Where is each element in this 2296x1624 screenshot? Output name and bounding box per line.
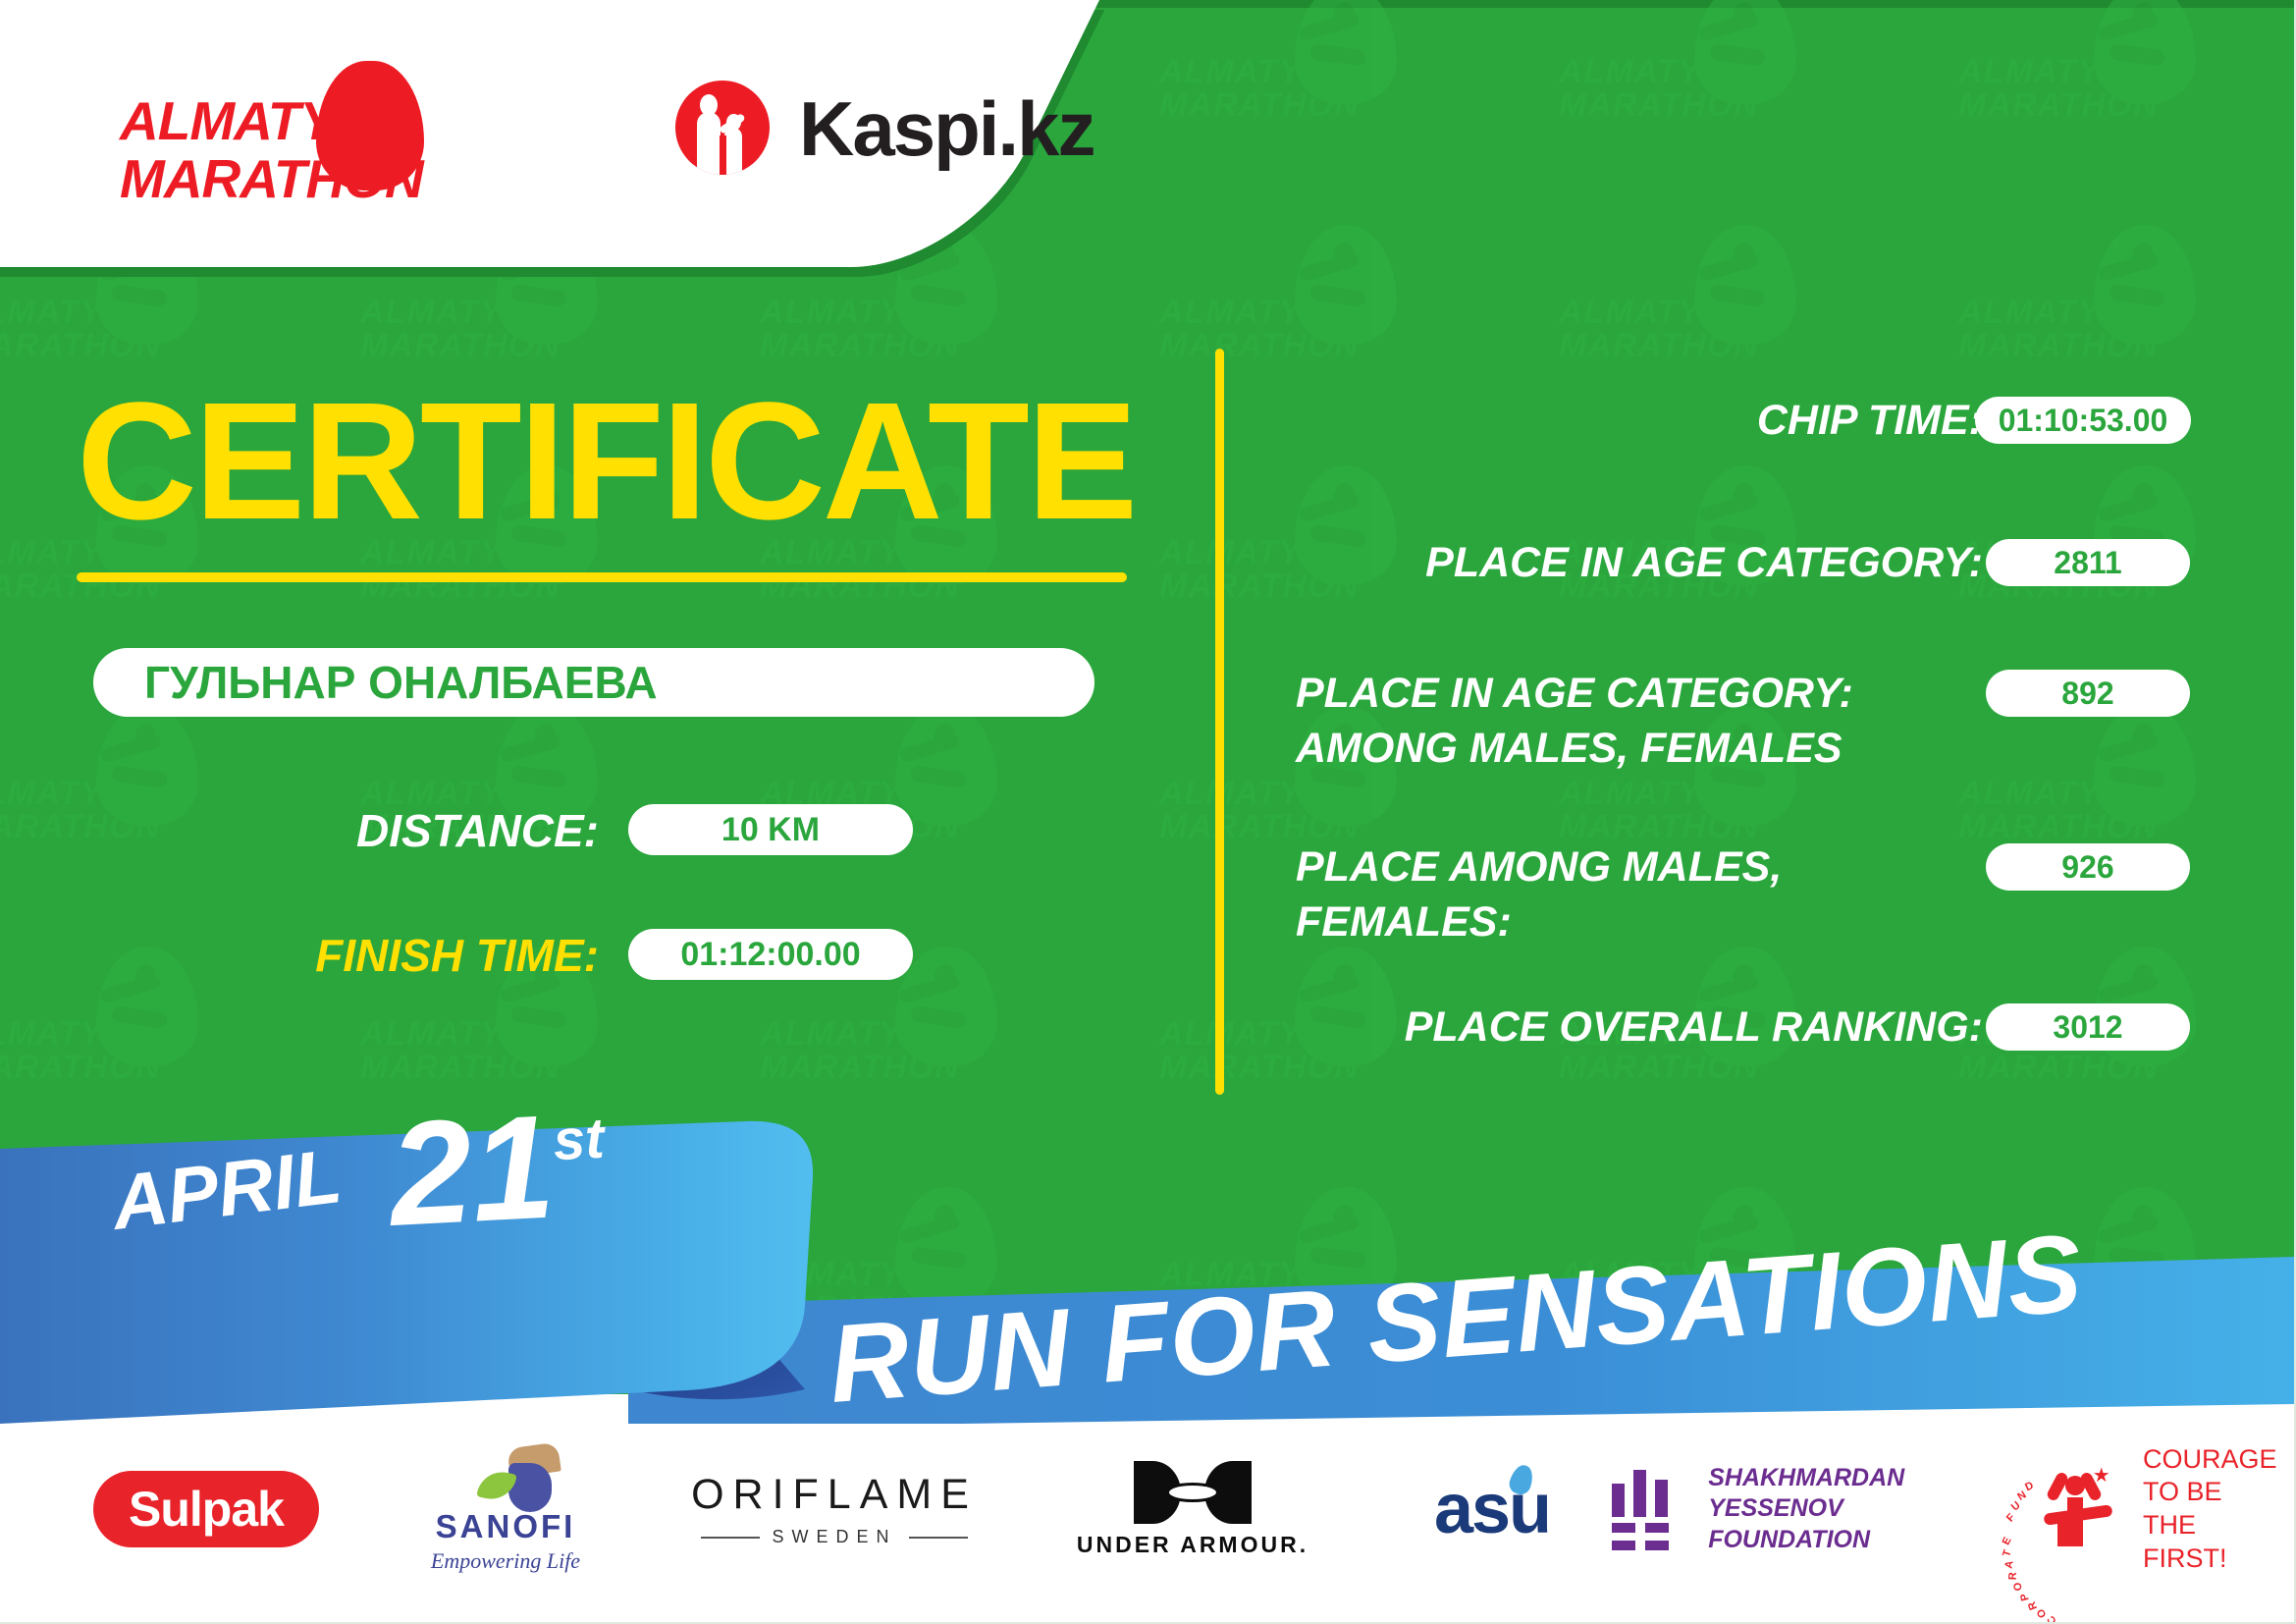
kaspi-family-icon [675,81,770,175]
watermark-tile: ALMATYMARATHON [1559,0,1814,177]
distance-row: DISTANCE: [265,800,599,861]
ym-bar-3 [1655,1480,1668,1517]
watermark-tile: ALMATYMARATHON [1958,0,2214,177]
place-age-category-gender-value: 892 [2061,676,2113,712]
sulpak-logo: Sulpak [93,1471,319,1547]
place-among-gender-label-l2: FEMALES: [1296,894,1983,949]
place-age-category-value: 2811 [2054,545,2121,581]
distance-label: DISTANCE: [356,800,599,861]
place-age-category-gender-value-pill: 892 [1986,670,2190,717]
wm-head [2130,480,2156,509]
sponsor-asu: asu [1355,1394,1629,1624]
courage-logo: CORPORATE FUND ★ COURAGE TO BE THE FIRST… [2018,1443,2282,1576]
wm-arm [1697,493,1759,523]
watermark-line2: MARATHON [1159,568,1360,606]
corporate-fund-arc-char: D [2023,1480,2035,1493]
yessenov-logo: SHAKHMARDAN YESSENOV FOUNDATION [1610,1463,2022,1555]
watermark-line1: ALMATY [1159,534,1302,572]
sanofi-shape-blue [508,1463,552,1512]
watermark-line1: ALMATY [1159,1015,1302,1054]
chip-time-value: 01:10:53.00 [1999,403,2168,439]
event-ribbon: APRIL 21 st RUN FOR SENSATIONS [0,1110,2296,1424]
place-age-category-gender-label-l2: AMONG MALES, FEMALES [1296,721,1983,776]
watermark-line2: MARATHON [1559,86,1759,125]
wm-leg [1709,284,1766,307]
yessenov-line1: SHAKHMARDAN YESSENOV [1708,1463,2022,1525]
sponsor-courage: CORPORATE FUND ★ COURAGE TO BE THE FIRST… [2022,1394,2277,1624]
courage-line3: THE FIRST! [2143,1509,2281,1576]
watermark-line1: ALMATY [1159,775,1302,813]
watermark-drop-icon [2094,706,2196,826]
wm-arm [2097,974,2159,1004]
watermark-line1: ALMATY [1958,53,2101,91]
kaspi-gap [720,135,726,175]
wm-head [1731,480,1756,509]
asu-logo: asu [1434,1469,1550,1549]
wm-arm [1298,12,1360,42]
finish-time-value: 01:12:00.00 [680,936,860,974]
wm-head [1331,480,1357,509]
wm-arm [1298,493,1360,523]
oriflame-rule-right [909,1537,968,1539]
place-among-gender-row: PLACE AMONG MALES, FEMALES: [1296,839,1983,949]
wm-leg [1309,1005,1366,1029]
wm-arm [2097,493,2159,523]
sanofi-wordmark: SANOFI [393,1508,618,1545]
wm-head [1331,961,1357,990]
finish-time-row: FINISH TIME: [226,925,599,986]
wm-arm [2097,733,2159,764]
wm-leg [1309,524,1366,548]
place-among-gender-value-pill: 926 [1986,843,2190,891]
under-armour-logo: UNDER ARMOUR. [1077,1461,1308,1558]
watermark-drop-icon [1295,225,1397,345]
yessenov-wordmark: SHAKHMARDAN YESSENOV FOUNDATION [1708,1463,2022,1555]
watermark-line1: ALMATY [1159,294,1302,332]
watermark-drop-icon [2094,225,2196,345]
chip-time-label: CHIP TIME: [1757,393,1983,448]
watermark-drop-icon [1694,0,1796,104]
watermark-line1: ALMATY [1958,294,2101,332]
place-overall-label: PLACE OVERALL RANKING: [1405,1000,1983,1055]
watermark-line1: ALMATY [1559,53,1701,91]
wm-head [1731,240,1756,268]
runner-drop-icon [316,61,424,190]
wm-leg [2109,43,2165,67]
under-armour-icon [1134,1461,1252,1524]
wm-head [2130,961,2156,990]
sponsor-under-armour: UNDER ARMOUR. [1031,1394,1355,1624]
wm-leg [2109,765,2165,788]
ym-dash-3 [1612,1541,1635,1550]
corporate-fund-arc-char: R [2006,1572,2018,1580]
watermark-line1: ALMATY [1559,775,1701,813]
place-age-category-label: PLACE IN AGE CATEGORY: [1425,535,1983,590]
watermark-drop-icon [1295,947,1397,1066]
wm-head [1331,240,1357,268]
finish-time-label: FINISH TIME: [315,925,599,986]
watermark-tile: ALMATYMARATHON [1559,221,1814,417]
watermark-line2: MARATHON [1159,1049,1360,1087]
sponsor-yessenov: SHAKHMARDAN YESSENOV FOUNDATION [1610,1394,2022,1624]
place-overall-value: 3012 [2053,1009,2122,1046]
wm-arm [1298,974,1360,1004]
wm-head [1731,961,1756,990]
yessenov-line2: FOUNDATION [1708,1525,2022,1555]
ua-center-hole [1169,1486,1216,1499]
distance-value-pill: 10 KM [628,804,913,855]
kaspi-wordmark: Kaspi.kz [799,84,1094,174]
wm-arm [1298,252,1360,283]
oriflame-wordmark: ORIFLAME [691,1471,978,1519]
place-overall-value-pill: 3012 [1986,1003,2190,1051]
watermark-line1: ALMATY [1958,775,2101,813]
corporate-fund-arc-char: P [2018,1593,2031,1602]
wm-arm [1697,12,1759,42]
almaty-marathon-logo: ALMATY MARATHON [120,61,454,193]
sponsor-sulpak: Sulpak [49,1394,363,1624]
wm-head [2130,721,2156,749]
watermark-tile: ALMATYMARATHON [1159,461,1415,658]
under-armour-wordmark: UNDER ARMOUR. [1077,1532,1308,1558]
sponsor-sanofi: SANOFI Empowering Life [363,1394,648,1624]
ym-dash-2 [1645,1523,1669,1533]
sanofi-logo: SANOFI Empowering Life [393,1445,618,1574]
certificate-root: ALMATYMARATHONALMATYMARATHONALMATYMARATH… [0,0,2296,1624]
oriflame-country: SWEDEN [772,1527,896,1547]
watermark-line1: ALMATY [1559,294,1701,332]
watermark-line2: MARATHON [1958,1049,2159,1087]
watermark-drop-icon [1694,225,1796,345]
corporate-fund-arc-char: O [2011,1582,2024,1592]
place-age-category-gender-label-l1: PLACE IN AGE CATEGORY: [1296,666,1983,721]
finish-time-value-pill: 01:12:00.00 [628,929,913,980]
sanofi-tagline: Empowering Life [393,1548,618,1574]
courage-line2: TO BE [2143,1476,2281,1509]
ym-bar-1 [1612,1484,1625,1517]
wm-arm [2097,252,2159,283]
wm-leg [1309,284,1366,307]
watermark-line2: MARATHON [1159,327,1360,365]
distance-value: 10 KM [721,811,820,849]
wm-arm [2097,12,2159,42]
ym-dash-4 [1645,1541,1669,1550]
ym-dash-1 [1612,1523,1635,1533]
wm-leg [2109,284,2165,307]
watermark-line2: MARATHON [1958,86,2159,125]
oriflame-rule-left [701,1537,760,1539]
courage-line1: COURAGE [2143,1443,2281,1477]
sponsor-bar: Sulpak SANOFI Empowering Life ORIFLAME S… [0,1394,2296,1624]
sanofi-mark-icon [393,1445,618,1506]
almaty-line: ALMATY [120,90,335,151]
ribbon-day-suffix: st [552,1110,609,1172]
wm-leg [1309,43,1366,67]
wm-arm [1697,252,1759,283]
kaspi-child-body [724,128,742,175]
oriflame-logo: ORIFLAME SWEDEN [691,1471,978,1547]
courage-wordmark: COURAGE TO BE THE FIRST! [2143,1443,2281,1576]
place-among-gender-value: 926 [2061,849,2113,886]
asu-wordmark: asu [1434,1469,1550,1549]
chip-time-value-pill: 01:10:53.00 [1975,397,2191,444]
watermark-drop-icon [1295,465,1397,585]
column-divider [1215,349,1224,1095]
kaspi-logo: Kaspi.kz [675,77,1097,183]
wm-leg [1709,43,1766,67]
place-among-gender-label-l1: PLACE AMONG MALES, [1296,839,1983,894]
ym-bar-2 [1633,1470,1646,1517]
header-content: ALMATY MARATHON Kaspi.kz [0,0,1227,260]
watermark-tile: ALMATYMARATHON [1958,221,2214,417]
wm-head [2130,240,2156,268]
runner-leg2-shape [569,136,591,186]
watermark-drop-icon [1295,0,1397,104]
ribbon-day: 21 [383,1110,558,1257]
watermark-drop-icon [2094,0,2196,104]
watermark-line2: MARATHON [1958,808,2159,846]
kaspi-adult-body [697,112,721,175]
watermark-line2: MARATHON [1958,327,2159,365]
place-age-category-gender-row: PLACE IN AGE CATEGORY: AMONG MALES, FEMA… [1296,666,1983,776]
sponsor-oriflame: ORIFLAME SWEDEN [648,1394,1021,1624]
oriflame-sub: SWEDEN [691,1527,978,1547]
place-age-category-value-pill: 2811 [1986,539,2190,586]
yessenov-mark-icon [1610,1466,1684,1552]
watermark-line2: MARATHON [1559,327,1759,365]
courage-mark-icon: CORPORATE FUND ★ [2018,1454,2131,1564]
courage-head [2065,1476,2085,1495]
